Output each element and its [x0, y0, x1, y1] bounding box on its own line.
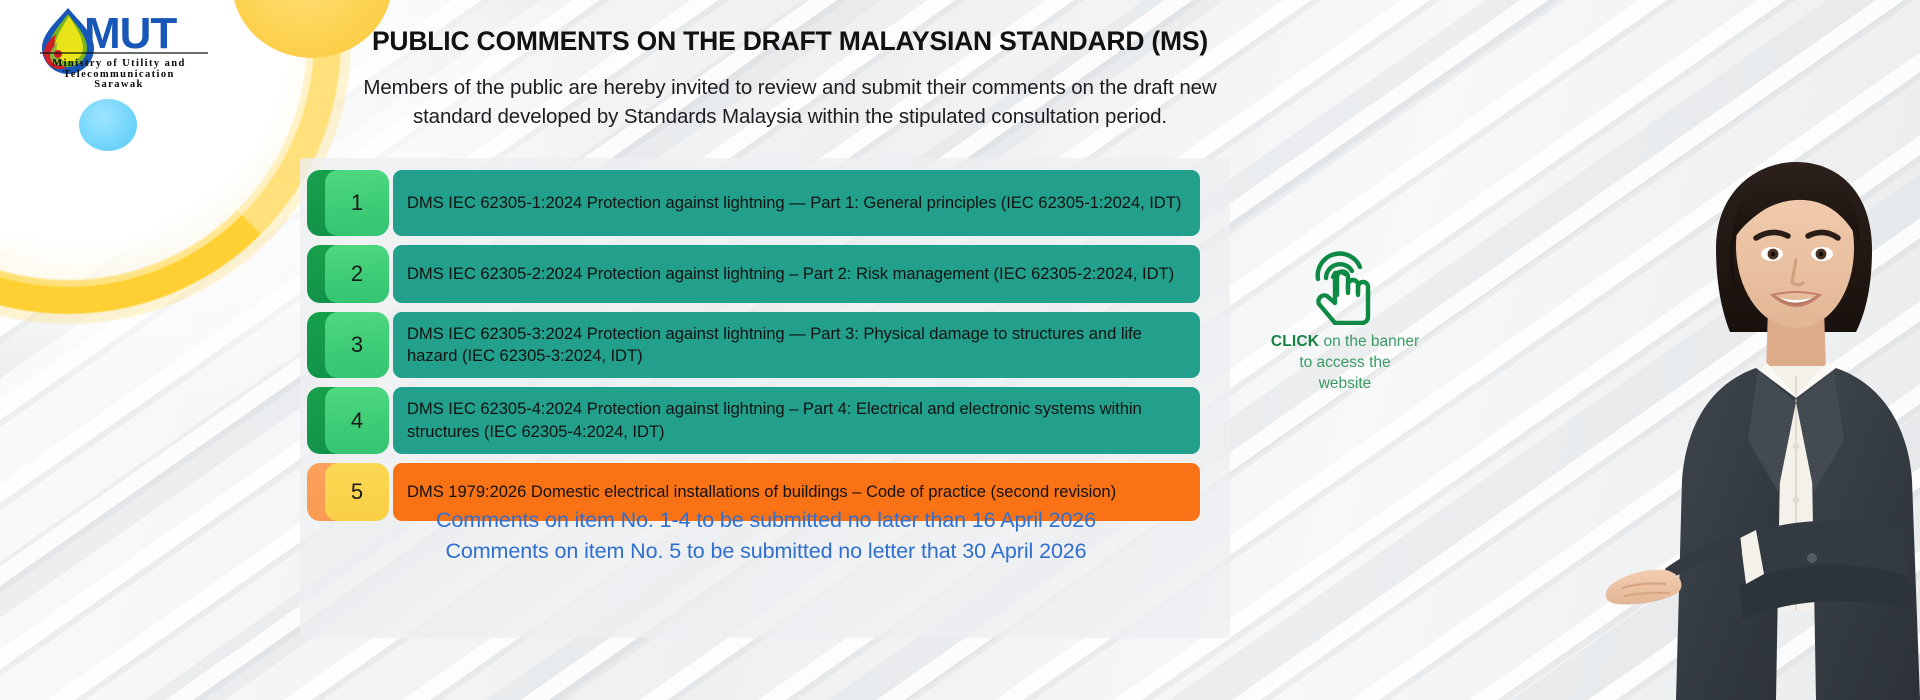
item-text: DMS IEC 62305-3:2024 Protection against …: [393, 312, 1200, 378]
subtitle-line-1: Members of the public are hereby invited…: [250, 73, 1330, 102]
businesswoman-photo: [1590, 140, 1920, 700]
click-banner-cta-text: CLICK on the banner to access the websit…: [1255, 331, 1435, 394]
item-number-value: 2: [325, 245, 389, 303]
deadline-note-line-1: Comments on item No. 1-4 to be submitted…: [300, 505, 1232, 536]
item-number-badge: 3: [307, 312, 391, 378]
list-item[interactable]: 4 DMS IEC 62305-4:2024 Protection agains…: [307, 387, 1200, 453]
header: PUBLIC COMMENTS ON THE DRAFT MALAYSIAN S…: [250, 26, 1330, 131]
deadline-note-line-2: Comments on item No. 5 to be submitted n…: [300, 536, 1232, 567]
deadline-note: Comments on item No. 1-4 to be submitted…: [300, 505, 1232, 566]
list-item[interactable]: 1 DMS IEC 62305-1:2024 Protection agains…: [307, 170, 1200, 236]
logo-line3: Sarawak: [94, 79, 143, 88]
cta-line-2: to access the: [1255, 352, 1435, 373]
cta-rest: on the banner: [1319, 333, 1419, 350]
list-item[interactable]: 3 DMS IEC 62305-3:2024 Protection agains…: [307, 312, 1200, 378]
item-number-badge: 1: [307, 170, 391, 236]
logo-line1: Ministry of Utility and: [52, 58, 185, 69]
page-title: PUBLIC COMMENTS ON THE DRAFT MALAYSIAN S…: [250, 26, 1330, 57]
subtitle-line-2: standard developed by Standards Malaysia…: [250, 102, 1330, 131]
item-number-badge: 4: [307, 387, 391, 453]
svg-text:MUT: MUT: [84, 9, 177, 58]
item-text: DMS IEC 62305-2:2024 Protection against …: [393, 245, 1200, 303]
click-banner-cta[interactable]: CLICK on the banner to access the websit…: [1255, 245, 1435, 394]
standards-list: 1 DMS IEC 62305-1:2024 Protection agains…: [307, 170, 1200, 521]
item-number-badge: 2: [307, 245, 391, 303]
item-number-value: 1: [325, 170, 389, 236]
item-number-value: 4: [325, 387, 389, 453]
cta-emphasis: CLICK: [1271, 333, 1319, 350]
cta-line-1: CLICK on the banner: [1255, 331, 1435, 352]
page-subtitle: Members of the public are hereby invited…: [250, 73, 1330, 131]
item-number-value: 3: [325, 312, 389, 378]
list-item[interactable]: 2 DMS IEC 62305-2:2024 Protection agains…: [307, 245, 1200, 303]
cta-line-3: website: [1255, 373, 1435, 394]
item-text: DMS IEC 62305-1:2024 Protection against …: [393, 170, 1200, 236]
mut-logo: MUT Ministry of Utility and Telecommunic…: [22, 4, 216, 88]
click-hand-pointer-icon: [1255, 245, 1435, 325]
blue-dot-decoration: [79, 99, 137, 151]
item-text: DMS IEC 62305-4:2024 Protection against …: [393, 387, 1200, 453]
